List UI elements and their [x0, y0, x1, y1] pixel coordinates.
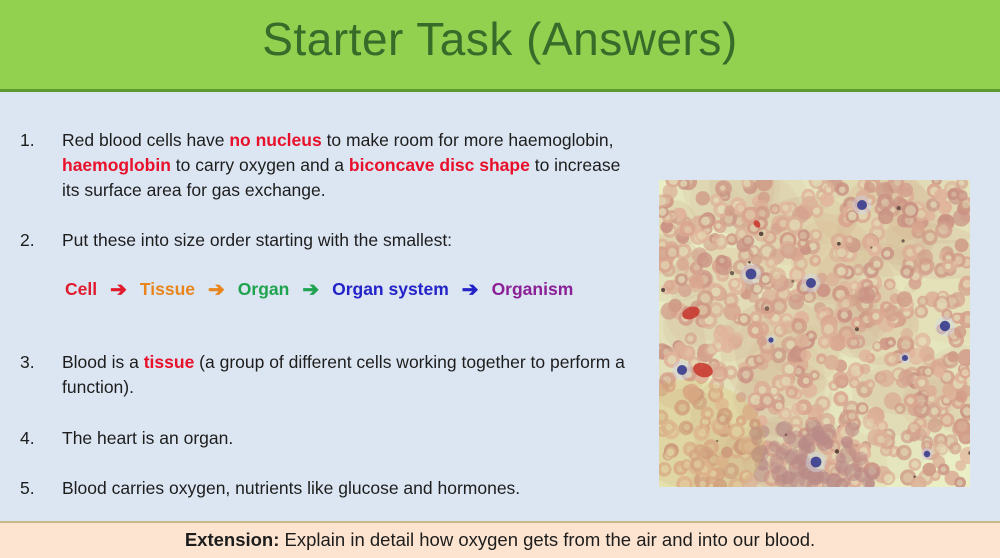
answer-number-1: 1. [20, 128, 50, 153]
white-blood-cell-1 [853, 196, 872, 215]
white-blood-cell-8 [921, 448, 933, 460]
text-run: Put these into size order starting with … [62, 230, 452, 250]
text-run: Blood carries oxygen, nutrients like glu… [62, 478, 520, 498]
answer-number-2: 2. [20, 228, 50, 253]
text-run: to carry oxygen and a [171, 155, 349, 175]
answer-item-5: 5. Blood carries oxygen, nutrients like … [20, 476, 630, 501]
text-run: Blood is a [62, 352, 144, 372]
white-blood-cell-9 [766, 335, 776, 345]
title-banner: Starter Task (Answers) [0, 0, 1000, 92]
white-blood-cell-5 [673, 361, 692, 380]
answer-text-1: Red blood cells have no nucleus to make … [62, 128, 630, 203]
extension-text: Extension: Explain in detail how oxygen … [0, 529, 1000, 551]
chain-arrow-icon-2: ➔ [208, 277, 225, 302]
answer-number-4: 4. [20, 426, 50, 451]
answer-item-1: 1. Red blood cells have no nucleus to ma… [20, 128, 630, 203]
answers-list: 1. Red blood cells have no nucleus to ma… [0, 95, 640, 515]
white-blood-cell-6 [806, 452, 827, 473]
chain-step-organism: Organism [492, 279, 574, 300]
micrograph-canvas [659, 180, 970, 487]
white-blood-cell-2 [741, 264, 762, 285]
answer-item-3: 3. Blood is a tissue (a group of differe… [20, 350, 630, 400]
white-blood-cell-7 [899, 352, 910, 363]
answer-number-5: 5. [20, 476, 50, 501]
white-blood-cell-4 [935, 316, 955, 336]
chain-step-tissue: Tissue [140, 279, 195, 300]
extension-body: Explain in detail how oxygen gets from t… [279, 529, 815, 550]
blood-smear-micrograph [659, 180, 970, 487]
highlighted-term: haemoglobin [62, 155, 171, 175]
answer-number-3: 3. [20, 350, 50, 375]
extension-bar: Extension: Explain in detail how oxygen … [0, 521, 1000, 558]
answer-text-4: The heart is an organ. [62, 426, 630, 451]
highlighted-term: biconcave disc shape [349, 155, 530, 175]
extension-label: Extension: [185, 529, 280, 550]
highlighted-term: no nucleus [229, 130, 321, 150]
answer-text-5: Blood carries oxygen, nutrients like glu… [62, 476, 630, 501]
white-blood-cell-3 [802, 274, 821, 293]
answer-text-2: Put these into size order starting with … [62, 228, 630, 253]
highlighted-term: tissue [144, 352, 195, 372]
answer-text-3: Blood is a tissue (a group of different … [62, 350, 630, 400]
page-title: Starter Task (Answers) [0, 12, 1000, 66]
chain-step-organ-system: Organ system [332, 279, 449, 300]
chain-arrow-icon-4: ➔ [462, 277, 479, 302]
answer-item-4: 4. The heart is an organ. [20, 426, 630, 451]
chain-step-cell: Cell [65, 279, 97, 300]
hierarchy-chain: Cell➔Tissue➔Organ➔Organ system➔Organism [62, 277, 576, 302]
chain-arrow-icon-1: ➔ [110, 277, 127, 302]
text-run: to make room for more haemoglobin, [322, 130, 614, 150]
text-run: Red blood cells have [62, 130, 229, 150]
text-run: The heart is an organ. [62, 428, 233, 448]
answer-item-2: 2. Put these into size order starting wi… [20, 228, 630, 253]
chain-arrow-icon-3: ➔ [302, 277, 319, 302]
chain-step-organ: Organ [238, 279, 290, 300]
slide-root: Starter Task (Answers) 1. Red blood cell… [0, 0, 1000, 558]
